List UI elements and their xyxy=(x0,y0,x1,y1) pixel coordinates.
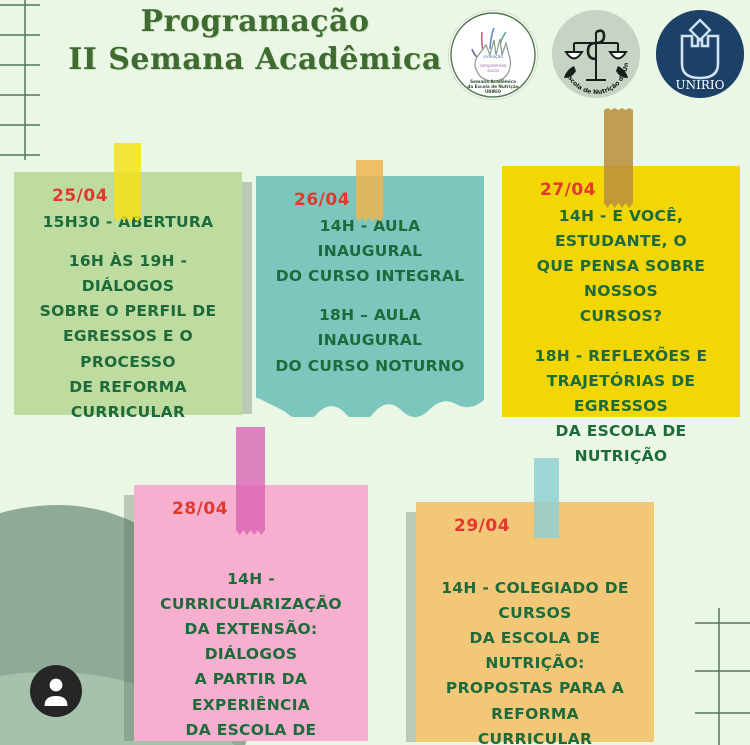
tape-note-27 xyxy=(604,108,636,208)
note-line: 18H - REFLEXÕES E xyxy=(535,347,708,365)
note-body: 14H - CURRICULARIZAÇÃO DA EXTENSÃO: DIÁL… xyxy=(146,567,356,745)
tape-icon xyxy=(356,160,383,222)
poster-title-block: Programação II Semana Acadêmica xyxy=(60,6,450,77)
torn-edge-icon xyxy=(256,397,484,417)
unirio-logo: UNIRIO xyxy=(656,10,744,98)
note-shadow xyxy=(242,182,252,414)
note-line: 14H - CURRICULARIZAÇÃO xyxy=(160,570,342,613)
poster-header: Programação II Semana Acadêmica inovação… xyxy=(0,0,750,115)
note-line: DA ESCOLA DE NUTRIÇÃO xyxy=(186,721,317,745)
escola-nutricao-logo: Escola de Nutrição da Unirio xyxy=(552,10,640,98)
tape-icon xyxy=(604,108,636,208)
note-line: DA ESCOLA DE NUTRIÇÃO xyxy=(556,422,687,465)
note-paragraph: 18H – AULA INAUGURAL DO CURSO NOTURNO xyxy=(268,303,472,378)
note-line: 14H - COLEGIADO DE CURSOS xyxy=(441,579,629,622)
note-line: 18H – AULA INAUGURAL xyxy=(318,306,423,349)
note-body: 14H - E VOCÊ, ESTUDANTE, O QUE PENSA SOB… xyxy=(514,204,728,469)
note-line: CURRICULAR xyxy=(478,730,592,745)
note-line: CURSOS? xyxy=(580,307,663,325)
tape-note-29 xyxy=(534,458,559,538)
note-paragraph: 14H - E VOCÊ, ESTUDANTE, O QUE PENSA SOB… xyxy=(514,204,728,330)
note-paragraph: 14H - AULA INAUGURAL DO CURSO INTEGRAL xyxy=(268,214,472,289)
note-body: 14H - COLEGIADO DE CURSOS DA ESCOLA DE N… xyxy=(428,576,642,745)
note-date: 25/04 xyxy=(52,186,230,206)
tape-note-26 xyxy=(356,160,383,222)
note-line: DA EXTENSÃO: DIÁLOGOS xyxy=(184,620,317,663)
page-title-line2: II Semana Acadêmica xyxy=(60,44,450,76)
note-line: DE REFORMA CURRICULAR xyxy=(69,378,187,421)
hand-icon: inovação compromisso social Semana Acadê… xyxy=(449,11,537,99)
tape-icon xyxy=(534,458,559,538)
unirio-mark-icon: UNIRIO xyxy=(656,10,744,98)
note-line: A PARTIR DA EXPERIÊNCIA xyxy=(192,670,310,713)
note-body: 14H - AULA INAUGURAL DO CURSO INTEGRAL 1… xyxy=(268,214,472,379)
note-line: EGRESSOS E O PROCESSO xyxy=(63,327,193,370)
note-line: 14H - AULA INAUGURAL xyxy=(318,217,423,260)
tape-icon xyxy=(114,143,141,222)
scales-serpent-icon: Escola de Nutrição da Unirio xyxy=(552,10,640,98)
note-paragraph: 18H - REFLEXÕES E TRAJETÓRIAS DE EGRESSO… xyxy=(514,344,728,470)
tape-note-28 xyxy=(236,427,265,535)
note-body: 15H30 - ABERTURA 16H ÀS 19H - DIÁLOGOS S… xyxy=(26,210,230,425)
note-line: PROPOSTAS PARA A REFORMA xyxy=(446,679,624,722)
person-icon xyxy=(41,675,71,707)
note-line: SOBRE O PERFIL DE xyxy=(40,302,217,320)
note-line: DO CURSO INTEGRAL xyxy=(276,267,465,285)
svg-text:social: social xyxy=(487,68,498,73)
svg-text:UNIRIO: UNIRIO xyxy=(676,78,725,92)
note-date: 26/04 xyxy=(294,190,472,210)
svg-text:UNIRIO: UNIRIO xyxy=(485,89,502,94)
note-line: TRAJETÓRIAS DE EGRESSOS xyxy=(547,372,696,415)
tape-icon xyxy=(236,427,265,535)
profile-avatar[interactable] xyxy=(30,665,82,717)
note-line: 16H ÀS 19H - DIÁLOGOS xyxy=(69,252,187,295)
semana-academica-logo: inovação compromisso social Semana Acadê… xyxy=(448,10,538,100)
svg-text:inovação: inovação xyxy=(483,54,503,60)
note-paragraph: 16H ÀS 19H - DIÁLOGOS SOBRE O PERFIL DE … xyxy=(26,249,230,425)
note-line: DO CURSO NOTURNO xyxy=(275,357,464,375)
note-line: QUE PENSA SOBRE NOSSOS xyxy=(537,257,705,300)
page-title-line1: Programação xyxy=(60,6,450,38)
poster-canvas: Programação II Semana Acadêmica inovação… xyxy=(0,0,750,745)
note-paragraph: 14H - CURRICULARIZAÇÃO DA EXTENSÃO: DIÁL… xyxy=(146,567,356,745)
note-paragraph: 14H - COLEGIADO DE CURSOS DA ESCOLA DE N… xyxy=(428,576,642,745)
tape-note-25 xyxy=(114,143,141,222)
note-line: DA ESCOLA DE NUTRIÇÃO: xyxy=(470,629,601,672)
note-line: 14H - E VOCÊ, ESTUDANTE, O xyxy=(555,207,687,250)
